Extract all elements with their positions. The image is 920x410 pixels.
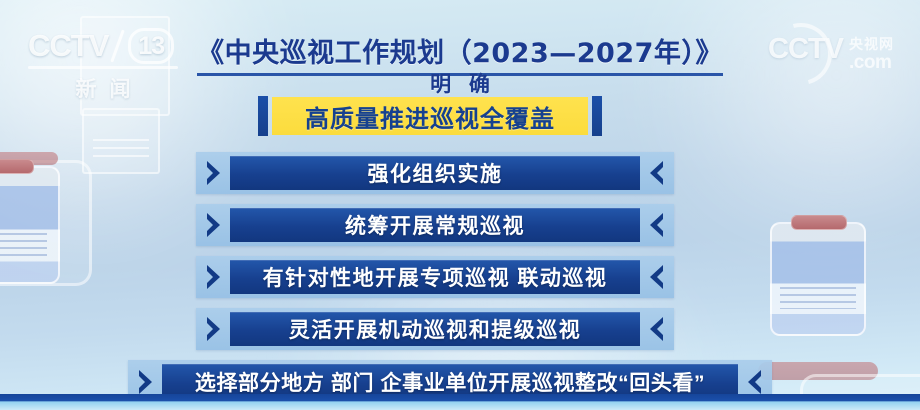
clipboard-board	[0, 166, 60, 284]
list-item: 强化组织实施	[196, 152, 674, 194]
banner-cap-left	[258, 96, 268, 136]
highlight-banner: 高质量推进巡视全覆盖	[258, 97, 602, 135]
chevron-right-icon	[196, 308, 230, 350]
list-item: 有针对性地开展专项巡视 联动巡视	[196, 256, 674, 298]
bg-paper-lined	[82, 108, 160, 174]
list-item-label: 选择部分地方 部门 企事业单位开展巡视整改“回头看”	[195, 367, 705, 397]
bg-clipboard-left	[0, 166, 60, 284]
list-item: 灵活开展机动巡视和提级巡视	[196, 308, 674, 350]
list-item: 统筹开展常规巡视	[196, 204, 674, 246]
clipboard-clasp	[0, 159, 34, 174]
list-item-label: 灵活开展机动巡视和提级巡视	[289, 314, 582, 344]
bg-rounded-frame-left	[0, 160, 92, 286]
list-item-label: 统筹开展常规巡视	[345, 210, 525, 240]
bg-clipboard-right	[770, 222, 866, 336]
bg-accent-pill-left	[0, 152, 58, 165]
clipboard-clasp	[791, 215, 847, 230]
banner-label: 高质量推进巡视全覆盖	[305, 99, 555, 134]
list-item-bar: 统筹开展常规巡视	[230, 208, 640, 242]
bg-paper-lines	[93, 139, 149, 160]
chevron-left-icon	[640, 308, 674, 350]
bottom-accent-strip	[0, 394, 920, 410]
broadcast-graphic: CCTV 13 新闻 CCTV 央视网 .com 《中央巡视工作规划（2023—…	[0, 0, 920, 410]
clipboard-board	[770, 222, 866, 336]
bg-accent-pill-right	[758, 362, 878, 380]
chevron-right-icon	[196, 256, 230, 298]
list-item-bar: 灵活开展机动巡视和提级巡视	[230, 312, 640, 346]
list-item-label: 有针对性地开展专项巡视 联动巡视	[263, 262, 608, 292]
list-item-label: 强化组织实施	[368, 158, 503, 188]
chevron-right-icon	[196, 204, 230, 246]
chevron-right-icon	[196, 152, 230, 194]
list-item-bar: 有针对性地开展专项巡视 联动巡视	[230, 260, 640, 294]
banner-cap-right	[592, 96, 602, 136]
list-item-bar: 强化组织实施	[230, 156, 640, 190]
chevron-left-icon	[640, 256, 674, 298]
headline-subtitle: 明 确	[0, 68, 920, 98]
chevron-left-icon	[640, 204, 674, 246]
chevron-left-icon	[640, 152, 674, 194]
